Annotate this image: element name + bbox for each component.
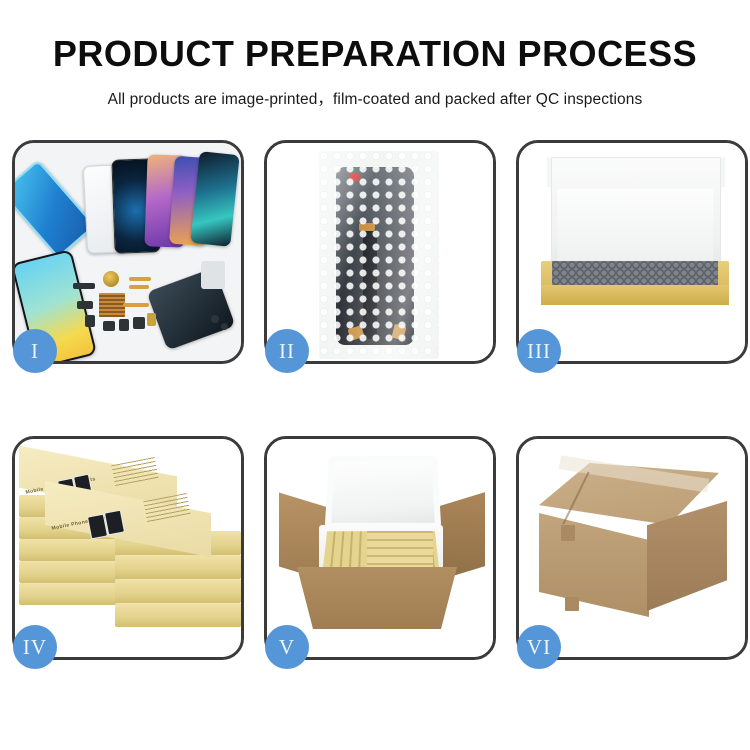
screw-part-2 xyxy=(221,323,228,330)
process-step-5: V xyxy=(264,436,496,660)
gold-boxes-row-back xyxy=(367,531,433,571)
gold-box-stack-right-3 xyxy=(115,579,241,603)
step-3-image xyxy=(519,143,745,361)
gold-box-stack-left-4 xyxy=(19,561,119,583)
step-badge-4: IV xyxy=(13,625,57,669)
connector-pad-part xyxy=(99,293,125,317)
step-1-image xyxy=(15,143,241,361)
process-step-3: III xyxy=(516,140,748,364)
process-step-grid: I II xyxy=(12,140,738,660)
gold-box-stack-left-5 xyxy=(19,583,119,605)
small-part-bar xyxy=(73,283,95,289)
step-4-image: Mobile Phone Spare Parts Mobile Phone Sp… xyxy=(15,439,241,657)
step-badge-5: V xyxy=(265,625,309,669)
step-badge-6: VI xyxy=(517,625,561,669)
gold-box-front-wall xyxy=(541,285,729,305)
process-step-6: VI xyxy=(516,436,748,660)
vibrator-part xyxy=(133,317,145,329)
page-subtitle: All products are image-printed，film-coat… xyxy=(0,87,750,109)
camera-part xyxy=(103,321,115,331)
bubble-wrap-bag xyxy=(319,151,439,359)
wrapped-screens-in-tray xyxy=(552,261,718,285)
phone-screen-teal xyxy=(190,151,239,247)
process-step-4: Mobile Phone Spare Parts Mobile Phone Sp… xyxy=(12,436,244,660)
flex-cable-part-3 xyxy=(123,303,149,307)
gold-box-stack-left-3 xyxy=(19,539,119,561)
sealed-carton-front xyxy=(539,513,649,617)
page-title: PRODUCT PREPARATION PROCESS xyxy=(0,34,750,74)
tweezers-tool xyxy=(201,261,225,289)
step-2-image xyxy=(267,143,493,361)
step-badge-2: II xyxy=(265,329,309,373)
step-badge-3: III xyxy=(517,329,561,373)
product-preparation-infographic: PRODUCT PREPARATION PROCESS All products… xyxy=(0,0,750,750)
sensor-part xyxy=(119,319,129,331)
button-part-1 xyxy=(77,301,93,309)
button-part-2 xyxy=(85,315,95,327)
process-step-2: II xyxy=(264,140,496,364)
screw-part-1 xyxy=(211,315,219,323)
step-6-image xyxy=(519,439,745,657)
header: PRODUCT PREPARATION PROCESS All products… xyxy=(0,0,750,109)
process-step-1: I xyxy=(12,140,244,364)
flex-cable-part-1 xyxy=(129,277,151,281)
carton-staple-lower xyxy=(565,597,579,611)
gold-contact-part xyxy=(147,313,156,326)
foam-sheet xyxy=(557,189,713,265)
carton-body xyxy=(297,567,457,629)
gold-box-stack-right-2 xyxy=(115,555,241,579)
foam-lid-open xyxy=(325,456,442,529)
step-badge-1: I xyxy=(13,329,57,373)
carton-staple-upper xyxy=(561,525,575,541)
speaker-coil-part xyxy=(103,271,119,287)
gold-box-stack-right-4 xyxy=(115,603,241,627)
step-5-image xyxy=(267,439,493,657)
flex-cable-part-2 xyxy=(129,285,149,289)
plastic-sheen xyxy=(319,151,439,359)
